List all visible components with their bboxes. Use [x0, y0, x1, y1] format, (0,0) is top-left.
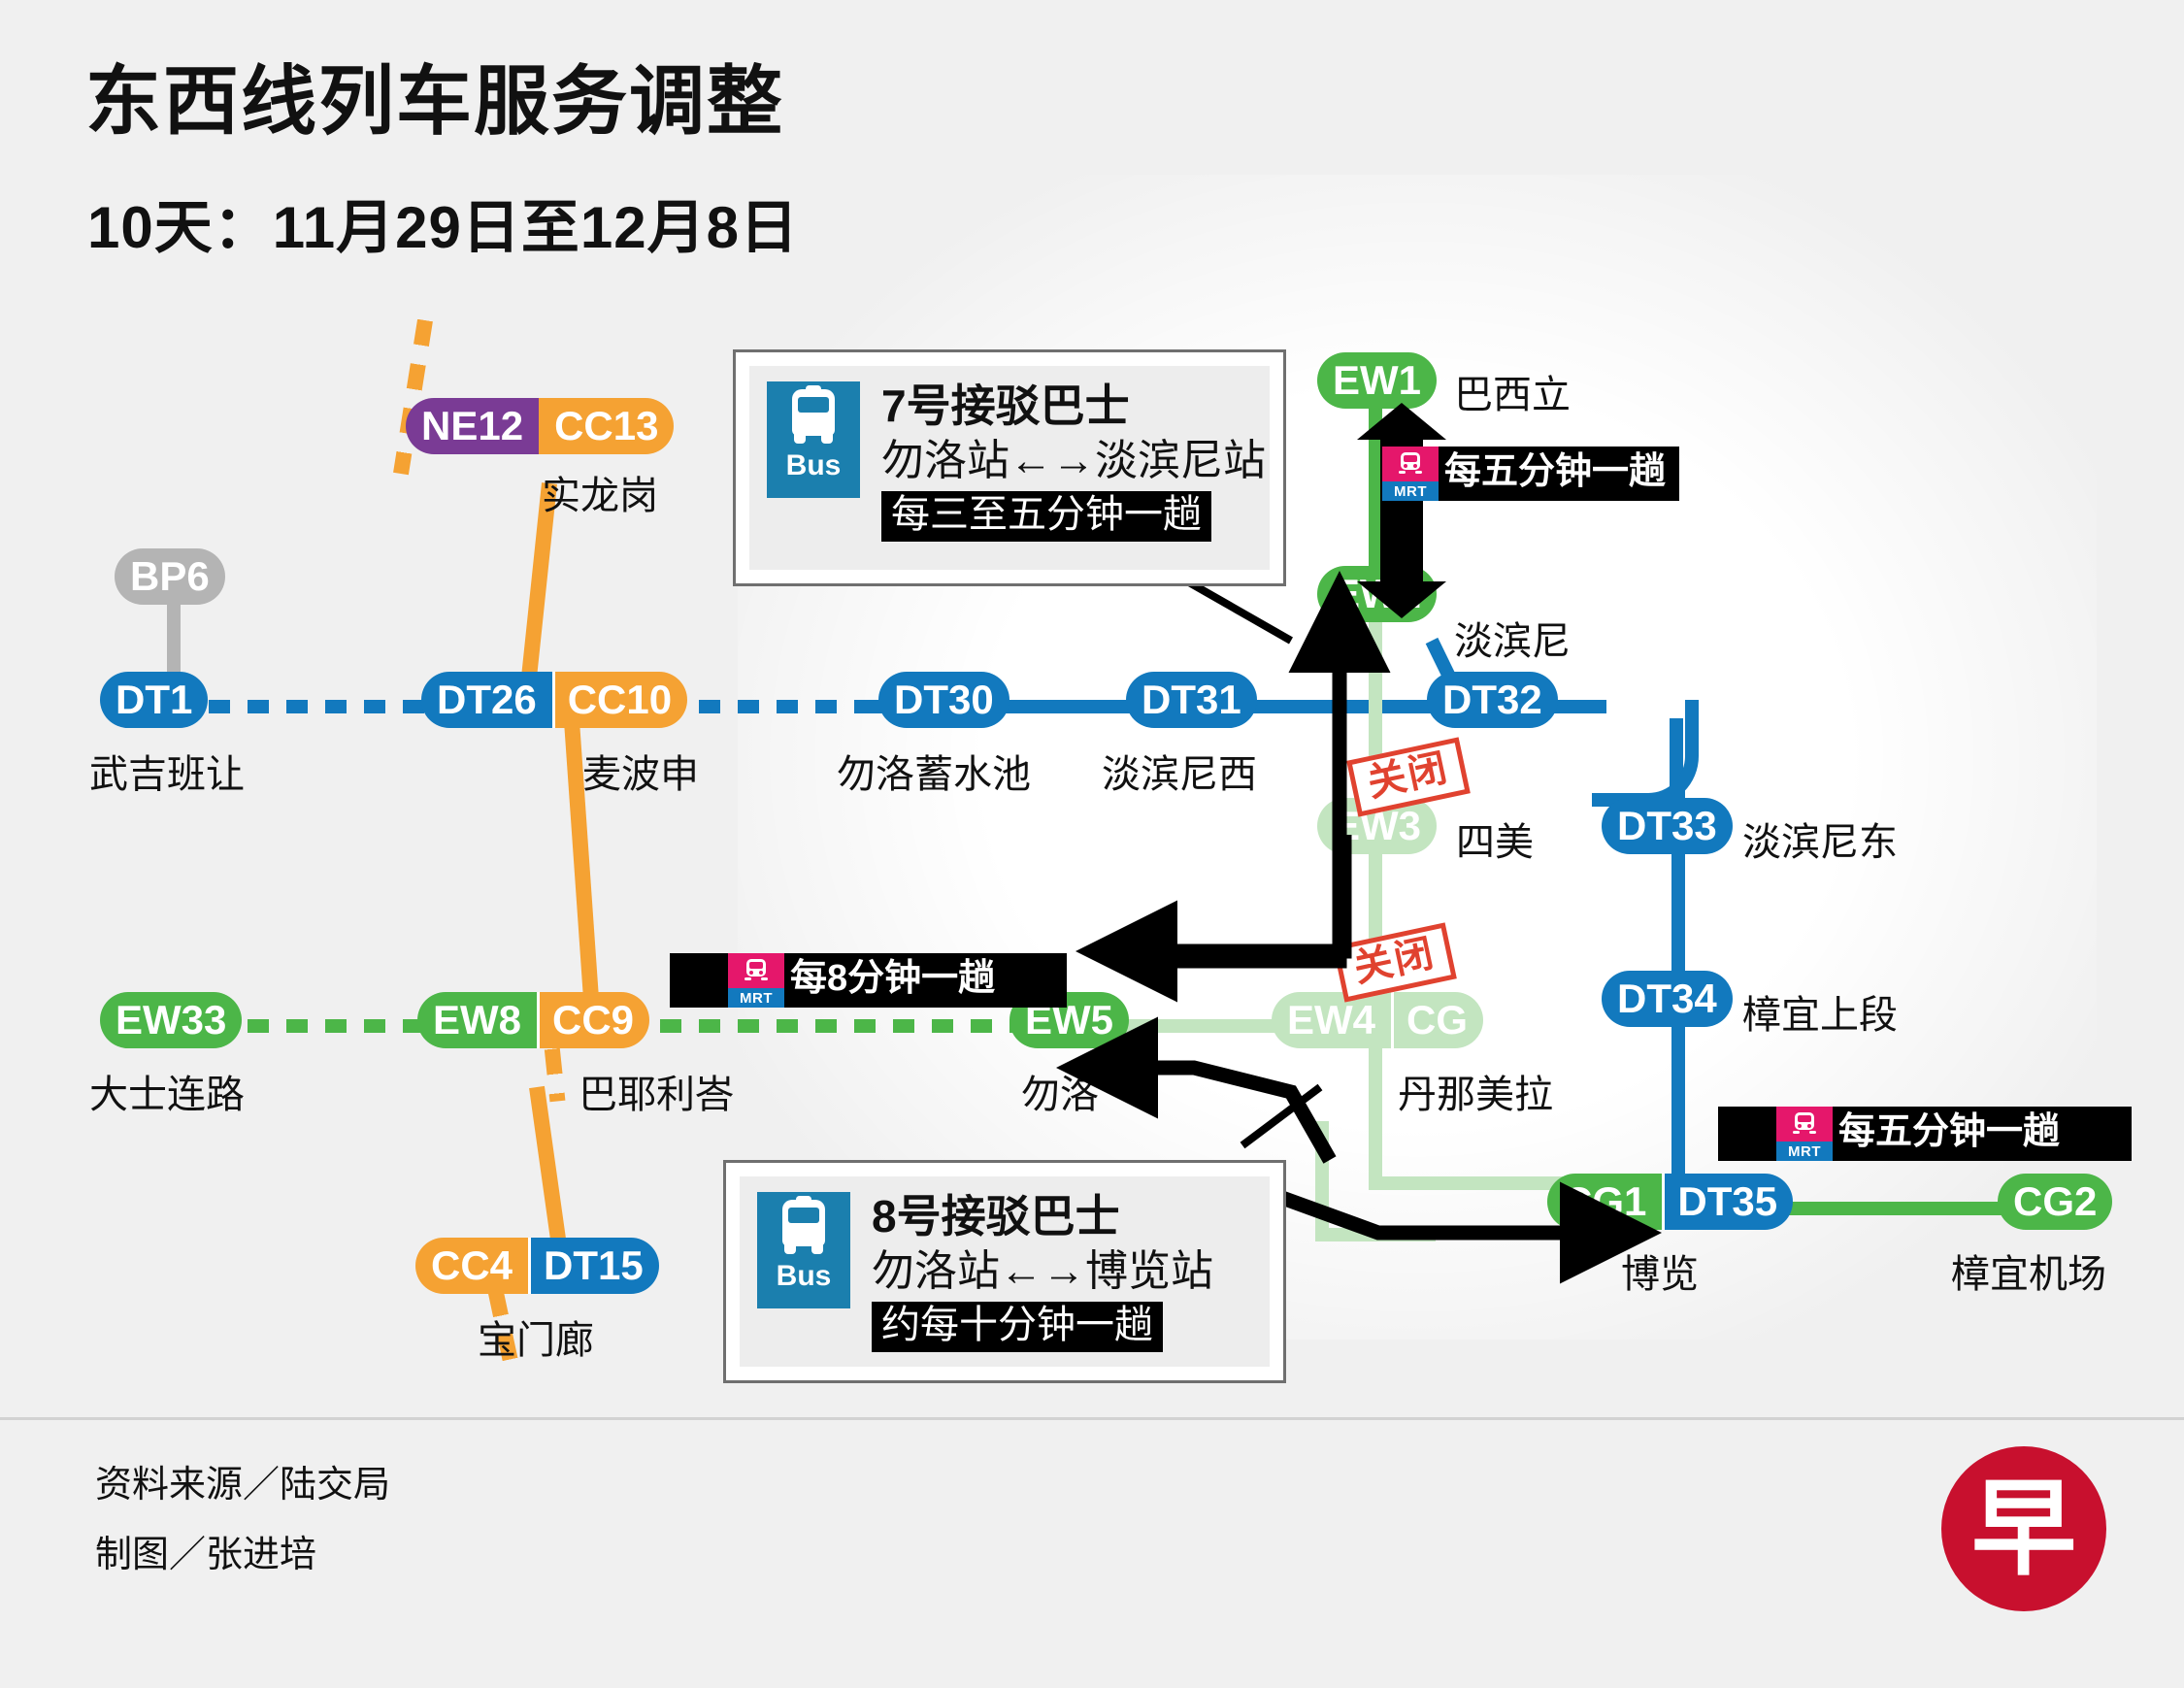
credit-source: 资料来源／陆交局	[95, 1454, 390, 1507]
closed-stamp-ew4: 关闭	[1333, 922, 1457, 1002]
station-code-bp6: BP6	[115, 548, 225, 605]
station-code-cg2: CG2	[1998, 1174, 2112, 1230]
station-pill-dt34[interactable]: DT34	[1602, 971, 1733, 1027]
frequency-badge-ew1-ew2: MRT 每五分钟一趟	[1382, 447, 1679, 501]
bus-icon-label: Bus	[777, 1262, 832, 1291]
station-pill-dt31[interactable]: DT31	[1126, 672, 1257, 728]
station-code-dt1: DT1	[100, 672, 208, 728]
station-code-cg: CG	[1391, 992, 1483, 1048]
mrt-label: MRT	[1382, 481, 1439, 501]
station-code-cc4: CC4	[415, 1238, 528, 1294]
station-code-dt35: DT35	[1662, 1174, 1793, 1230]
station-code-ew4: EW4	[1272, 992, 1391, 1048]
page-subtitle: 10天：11月29日至12月8日	[87, 181, 799, 265]
ewl-dashed-mid	[621, 1019, 1029, 1033]
station-code-dt31: DT31	[1126, 672, 1257, 728]
callout-bus8-title: 8号接驳巴士	[872, 1192, 1213, 1241]
callout-bus7-frequency: 每三至五分钟一趟	[881, 491, 1211, 542]
mrt-label: MRT	[728, 988, 784, 1008]
bus8-callout-leader	[1242, 1087, 1320, 1145]
mrt-label: MRT	[1776, 1142, 1833, 1161]
frequency-label-cg1-cg2: 每五分钟一趟	[1833, 1113, 2073, 1154]
frequency-badge-cg1-cg2: MRT 每五分钟一趟	[1718, 1107, 2132, 1161]
station-code-ne12: NE12	[406, 398, 539, 454]
publisher-logo: 早	[1941, 1446, 2106, 1611]
station-pill-bp6[interactable]: BP6	[115, 548, 225, 605]
dtl-dashed-west	[170, 700, 432, 713]
station-name-ew5: 勿洛	[1021, 1063, 1099, 1119]
station-name-cc4: 宝门廊	[478, 1308, 594, 1365]
station-code-cc10: CC10	[552, 672, 687, 728]
train-glyph	[728, 953, 784, 988]
callout-bus8[interactable]: Bus 8号接驳巴士 勿洛站←→博览站 约每十分钟一趟	[723, 1160, 1286, 1383]
station-name-ew33: 大士连路	[89, 1063, 245, 1119]
station-code-ew8: EW8	[417, 992, 537, 1048]
bus-icon-label: Bus	[786, 451, 842, 480]
station-pill-dt1[interactable]: DT1	[100, 672, 208, 728]
callout-bus8-route: 勿洛站←→博览站	[872, 1247, 1213, 1297]
station-name-ew3: 四美	[1456, 811, 1534, 867]
train-glyph	[1382, 447, 1439, 481]
station-pill-ew1[interactable]: EW1	[1317, 352, 1437, 409]
station-name-dt30: 勿洛蓄水池	[837, 743, 1031, 799]
station-pill-dt33[interactable]: DT33	[1602, 798, 1733, 854]
station-code-dt15: DT15	[528, 1238, 659, 1294]
station-code-ew33: EW33	[100, 992, 242, 1048]
arrow-up-icon	[1357, 403, 1446, 440]
station-name-dt26: 麦波申	[582, 743, 699, 799]
station-pill-ew8-cc9[interactable]: EW8 CC9	[417, 992, 649, 1048]
station-pill-cg1-dt35[interactable]: CG1 DT35	[1547, 1174, 1793, 1230]
bus7-callout-leader	[1189, 582, 1291, 641]
station-name-dt34: 樟宜上段	[1742, 983, 1898, 1040]
callout-bus7-route: 勿洛站←→淡滨尼站	[881, 437, 1266, 486]
station-pill-dt30[interactable]: DT30	[878, 672, 1009, 728]
ewl-suspended-corner	[1315, 1121, 1436, 1241]
station-name-cg2: 樟宜机场	[1951, 1242, 2106, 1299]
station-code-dt32: DT32	[1427, 672, 1558, 728]
circle-line-solid-bottom	[529, 1086, 566, 1242]
bus7-return-arrow	[1145, 835, 1344, 951]
station-pill-ew33[interactable]: EW33	[100, 992, 242, 1048]
arrow-down-icon	[1357, 581, 1446, 618]
station-pill-ew4-cg[interactable]: EW4 CG	[1272, 992, 1483, 1048]
bus-icon: Bus	[767, 381, 860, 498]
arrow-left-icon	[1718, 1107, 1776, 1161]
bus8-route-arrow-to-bedok	[1126, 1068, 1330, 1160]
station-pill-ne12-cc13[interactable]: NE12 CC13	[406, 398, 674, 454]
station-name-ew2: 淡滨尼	[1454, 610, 1571, 666]
station-pill-dt26-cc10[interactable]: DT26 CC10	[421, 672, 687, 728]
logo-character: 早	[1941, 1446, 2106, 1611]
bus-icon: Bus	[757, 1192, 850, 1308]
station-code-cc13: CC13	[539, 398, 674, 454]
closed-stamp-ew3: 关闭	[1346, 737, 1471, 816]
ewl-suspended-vertical	[1369, 602, 1382, 1184]
callout-bus7[interactable]: Bus 7号接驳巴士 勿洛站←→淡滨尼站 每三至五分钟一趟	[733, 349, 1286, 586]
station-name-dt31: 淡滨尼西	[1102, 743, 1257, 799]
callout-bus8-frequency: 约每十分钟一趟	[872, 1302, 1163, 1352]
station-name-dt33: 淡滨尼东	[1742, 811, 1898, 867]
station-code-cg1: CG1	[1547, 1174, 1662, 1230]
arrow-right-icon	[2073, 1107, 2132, 1161]
station-code-dt34: DT34	[1602, 971, 1733, 1027]
arrow-right-icon	[1009, 953, 1067, 1008]
station-code-cc9: CC9	[537, 992, 649, 1048]
credit-graphic: 制图／张进培	[95, 1524, 316, 1577]
station-pill-cc4-dt15[interactable]: CC4 DT15	[415, 1238, 659, 1294]
station-name-ne12: 实龙岗	[542, 464, 658, 520]
station-pill-cg2[interactable]: CG2	[1998, 1174, 2112, 1230]
mrt-icon: MRT	[1382, 447, 1439, 501]
bus-glyph	[778, 1200, 830, 1258]
mrt-icon: MRT	[1776, 1107, 1833, 1161]
station-name-dt1: 武吉班让	[89, 743, 245, 799]
station-name-ew4: 丹那美拉	[1398, 1063, 1553, 1119]
station-name-cg1: 博览	[1621, 1242, 1699, 1299]
train-glyph	[1776, 1107, 1833, 1142]
mrt-icon: MRT	[728, 953, 784, 1008]
station-name-ew8: 巴耶利峇	[579, 1063, 734, 1119]
station-code-ew1: EW1	[1317, 352, 1437, 409]
station-name-ew1: 巴西立	[1454, 363, 1571, 419]
station-code-dt33: DT33	[1602, 798, 1733, 854]
infographic-stage: 东西线列车服务调整 10天：11月29日至12月8日 BP6 DT1 武吉班让 …	[0, 0, 2184, 1688]
arrow-left-icon	[670, 953, 728, 1008]
callout-bus7-title: 7号接驳巴士	[881, 381, 1266, 431]
frequency-badge-ew8-ew5: MRT 每8分钟一趟	[670, 953, 1067, 1008]
station-code-dt26: DT26	[421, 672, 552, 728]
bus-glyph	[787, 389, 840, 447]
station-code-dt30: DT30	[878, 672, 1009, 728]
frequency-label-ew1-ew2: 每五分钟一趟	[1439, 453, 1679, 494]
circle-line-solid-lower	[561, 679, 600, 1009]
page-title: 东西线列车服务调整	[85, 41, 784, 149]
frequency-label-ew8-ew5: 每8分钟一趟	[784, 960, 1009, 1001]
station-pill-dt32[interactable]: DT32	[1427, 672, 1558, 728]
